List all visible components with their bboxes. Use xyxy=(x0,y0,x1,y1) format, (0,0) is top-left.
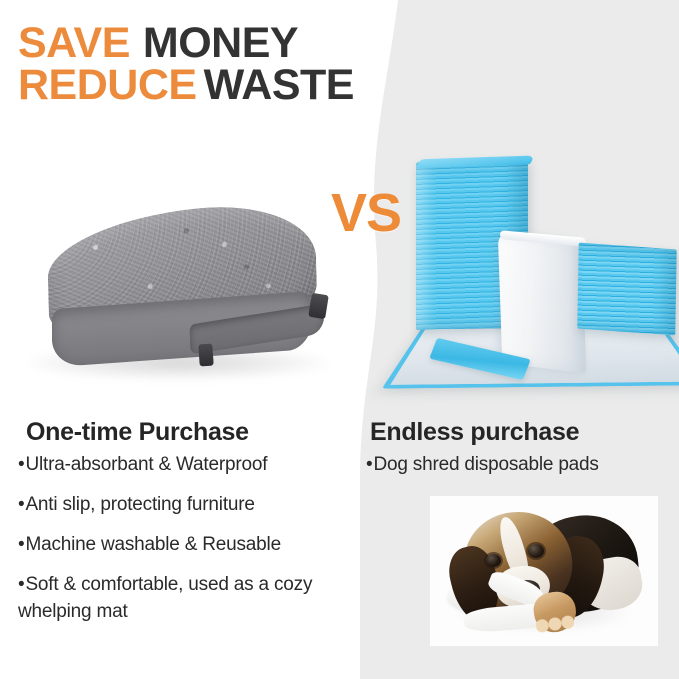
list-item-label: Soft & comfortable, used as a cozy whelp… xyxy=(18,574,312,622)
right-feature-list: •Dog shred disposable pads xyxy=(366,452,666,492)
product-comparison-infographic: SAVEMONEY REDUCEWASTE VS One-time Purcha… xyxy=(0,0,679,679)
page-title: SAVEMONEY REDUCEWASTE xyxy=(18,22,438,106)
list-item: •Machine washable & Reusable xyxy=(18,532,348,559)
list-item: •Soft & comfortable, used as a cozy whel… xyxy=(18,572,348,626)
left-column-heading: One-time Purchase xyxy=(26,418,249,447)
puppy-eye-left xyxy=(486,554,501,567)
headline-reduce: REDUCE xyxy=(18,61,197,109)
headline-money: MONEY xyxy=(143,19,298,67)
bullet-marker-icon: • xyxy=(366,454,372,475)
right-column-heading: Endless purchase xyxy=(370,418,579,447)
pad-stack-short-right xyxy=(577,243,676,336)
bullet-marker-icon: • xyxy=(18,534,24,555)
headline-line-2: REDUCEWASTE xyxy=(18,64,438,106)
left-feature-list: •Ultra-absorbant & Waterproof •Anti slip… xyxy=(18,452,348,639)
gray-blanket-image xyxy=(14,196,344,391)
list-item-label: Ultra-absorbant & Waterproof xyxy=(25,454,267,475)
puppy-eye-right xyxy=(528,544,544,558)
list-item-label: Dog shred disposable pads xyxy=(373,454,598,475)
bullet-marker-icon: • xyxy=(18,574,24,595)
list-item: •Ultra-absorbant & Waterproof xyxy=(18,452,348,479)
bullet-marker-icon: • xyxy=(18,454,24,475)
list-item-label: Anti slip, protecting furniture xyxy=(25,494,254,515)
blanket-label-tab-right xyxy=(308,293,329,319)
pad-draped-white-sheet xyxy=(498,230,587,373)
headline-waste: WASTE xyxy=(204,61,354,109)
blue-pee-pads-image xyxy=(396,150,679,400)
headline-line-1: SAVEMONEY xyxy=(18,22,438,64)
list-item: •Dog shred disposable pads xyxy=(366,452,666,479)
list-item: •Anti slip, protecting furniture xyxy=(18,492,348,519)
bullet-marker-icon: • xyxy=(18,494,24,515)
headline-save: SAVE xyxy=(18,19,130,67)
list-item-label: Machine washable & Reusable xyxy=(25,534,280,555)
puppy-photo xyxy=(430,496,658,646)
blanket-label-tab-front xyxy=(198,344,214,367)
